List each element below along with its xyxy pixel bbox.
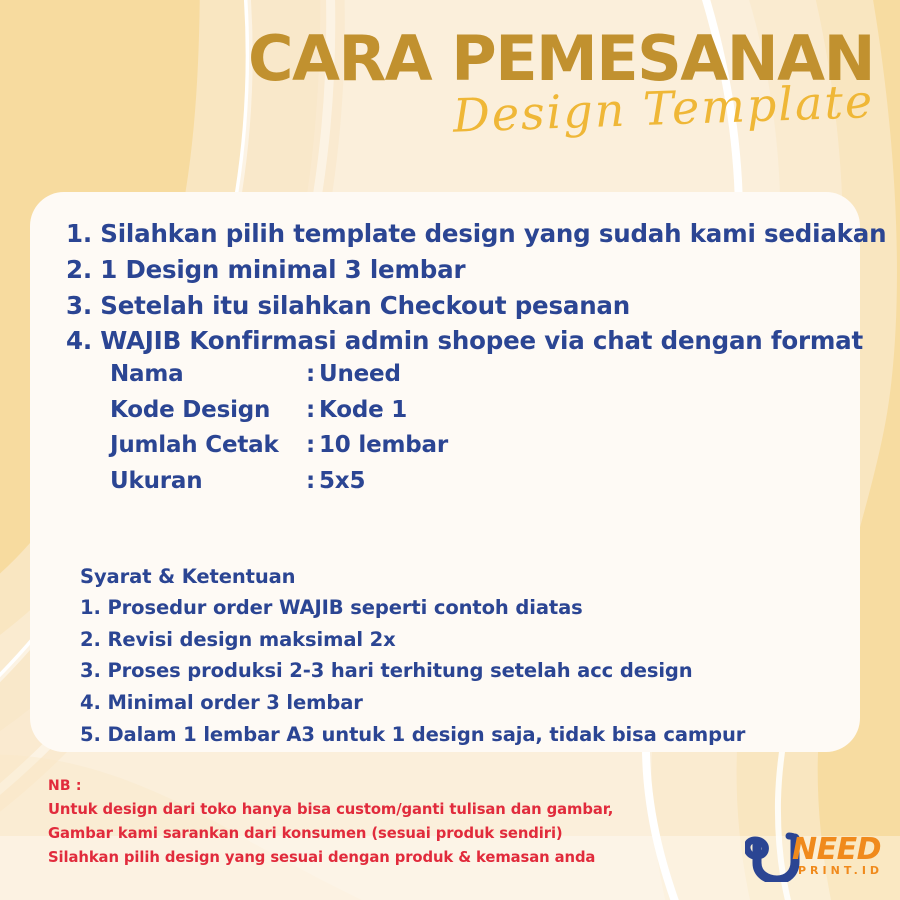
nb-item: Untuk design dari toko hanya bisa custom…	[48, 798, 688, 822]
nb-section: NB : Untuk design dari toko hanya bisa c…	[48, 776, 688, 870]
step-item: 2. 1 Design minimal 3 lembar	[66, 252, 846, 288]
terms-item: 5. Dalam 1 lembar A3 untuk 1 design saja…	[80, 719, 840, 751]
detail-value: 10 lembar	[319, 428, 448, 464]
detail-label: Nama	[110, 357, 306, 393]
logo-tagline: PRINT.ID	[798, 865, 883, 876]
terms-item: 1. Prosedur order WAJIB seperti contoh d…	[80, 592, 840, 624]
header: CARA PEMESANAN Design Template	[0, 28, 900, 124]
terms-section: Syarat & Ketentuan 1. Prosedur order WAJ…	[80, 562, 840, 750]
detail-label: Jumlah Cetak	[110, 428, 306, 464]
table-row: Kode Design : Kode 1	[110, 393, 448, 429]
poster-canvas: CARA PEMESANAN Design Template 1. Silahk…	[0, 0, 900, 900]
detail-colon: :	[306, 428, 319, 464]
detail-label: Kode Design	[110, 393, 306, 429]
detail-value: Kode 1	[319, 393, 407, 429]
step-item: 1. Silahkan pilih template design yang s…	[66, 216, 846, 252]
detail-colon: :	[306, 464, 319, 500]
logo-wordmark: NEED	[792, 835, 881, 865]
step-item: 4. WAJIB Konfirmasi admin shopee via cha…	[66, 323, 846, 359]
detail-label: Ukuran	[110, 464, 306, 500]
content-card: 1. Silahkan pilih template design yang s…	[30, 192, 860, 752]
step-item: 3. Setelah itu silahkan Checkout pesanan	[66, 288, 846, 324]
nb-item: Gambar kami sarankan dari konsumen (sesu…	[48, 822, 688, 846]
nb-item: Silahkan pilih design yang sesuai dengan…	[48, 846, 688, 870]
steps-list: 1. Silahkan pilih template design yang s…	[66, 216, 846, 359]
table-row: Ukuran : 5x5	[110, 464, 448, 500]
table-row: Jumlah Cetak : 10 lembar	[110, 428, 448, 464]
terms-item: 3. Proses produksi 2-3 hari terhitung se…	[80, 655, 840, 687]
detail-colon: :	[306, 357, 319, 393]
detail-value: Uneed	[319, 357, 401, 393]
order-format-table: Nama : Uneed Kode Design : Kode 1 Jumlah…	[110, 357, 448, 500]
brand-logo: NEED PRINT.ID	[745, 832, 895, 890]
terms-item: 2. Revisi design maksimal 2x	[80, 624, 840, 656]
terms-item: 4. Minimal order 3 lembar	[80, 687, 840, 719]
table-row: Nama : Uneed	[110, 357, 448, 393]
detail-value: 5x5	[319, 464, 365, 500]
terms-heading: Syarat & Ketentuan	[80, 562, 840, 592]
detail-colon: :	[306, 393, 319, 429]
nb-title: NB :	[48, 776, 688, 798]
